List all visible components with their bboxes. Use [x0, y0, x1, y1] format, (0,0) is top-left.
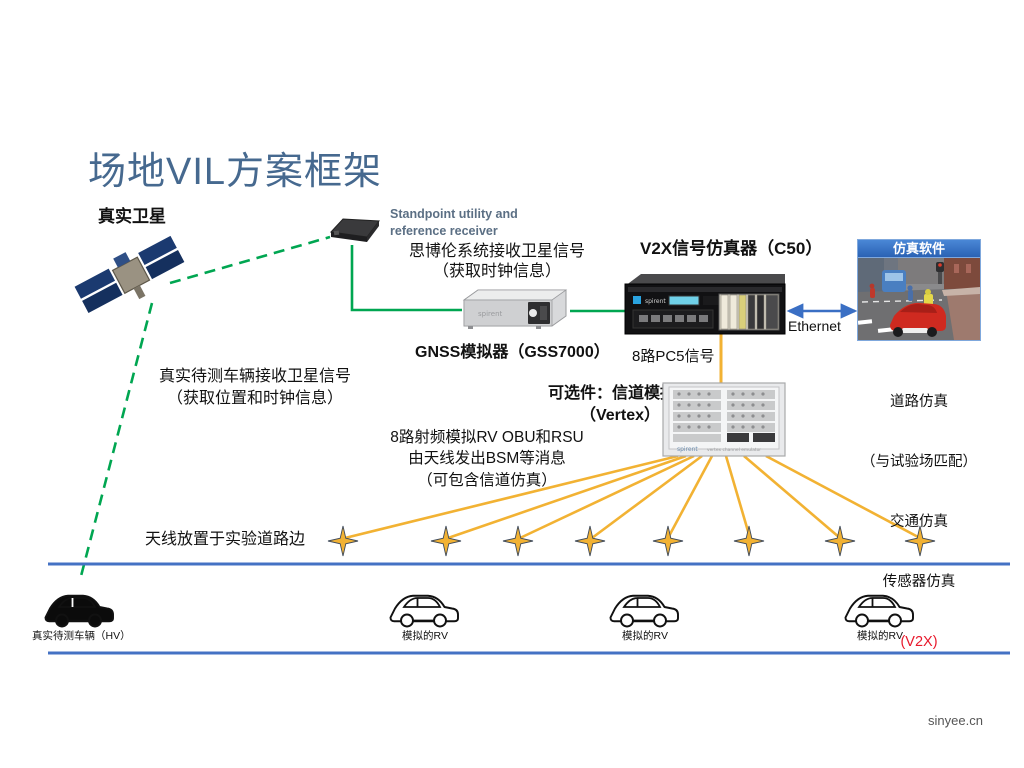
antenna-placement-note: 天线放置于实验道路边 — [145, 530, 305, 550]
car-icon — [377, 586, 473, 628]
antenna-icon — [575, 526, 605, 556]
pc5-signal-label: 8路PC5信号 — [632, 347, 715, 366]
car-icon — [32, 586, 128, 628]
simulation-software-panel: 仿真软件 — [857, 239, 981, 341]
simulation-software-header: 仿真软件 — [857, 239, 981, 257]
svg-text:spirent: spirent — [677, 446, 698, 453]
caption-line-match: （与试验场匹配） — [845, 452, 993, 472]
page-title: 场地VIL方案框架 — [88, 140, 382, 195]
spirent-clock-label: 思博伦系统接收卫星信号 （获取时钟信息） — [392, 242, 602, 283]
vehicle-remote-vehicle-1: 模拟的RV — [377, 586, 473, 643]
vehicle-label: 真实待测车辆（HV） — [32, 628, 128, 643]
hv-satellite-note: 真实待测车辆接收卫星信号 （获取位置和时钟信息） — [142, 366, 368, 409]
v2x-simulator-device: spirent — [625, 272, 785, 334]
standpoint-receiver-label: Standpoint utility and reference receive… — [390, 206, 518, 240]
car-icon — [597, 586, 693, 628]
vehicle-remote-vehicle-3: 模拟的RV — [832, 586, 928, 643]
svg-text:vertex channel emulator: vertex channel emulator — [707, 447, 761, 453]
antenna-icon — [734, 526, 764, 556]
satellite-icon — [72, 232, 192, 322]
v2x-simulator-label: V2X信号仿真器（C50） — [640, 238, 822, 260]
watermark: sinyee.cn — [928, 713, 983, 728]
gnss-simulator-device: spirent — [462, 286, 570, 330]
svg-text:spirent: spirent — [478, 310, 503, 318]
vehicle-label: 模拟的RV — [597, 628, 693, 643]
car-icon — [832, 586, 928, 628]
antenna-icon — [431, 526, 461, 556]
antenna-icon — [905, 526, 935, 556]
ethernet-label: Ethernet — [788, 318, 841, 336]
rf-channels-note: 8路射频模拟RV OBU和RSU 由天线发出BSM等消息 （可包含信道仿真） — [352, 427, 622, 491]
vehicle-remote-vehicle-2: 模拟的RV — [597, 586, 693, 643]
antenna-icon — [825, 526, 855, 556]
gnss-simulator-label: GNSS模拟器（GSS7000） — [415, 343, 610, 363]
antenna-icon — [653, 526, 683, 556]
simulation-scene-image — [857, 257, 981, 341]
svg-text:spirent: spirent — [645, 298, 666, 305]
vehicle-label: 模拟的RV — [377, 628, 473, 643]
antenna-icon — [328, 526, 358, 556]
satellite-label: 真实卫星 — [98, 206, 166, 228]
reference-receiver-device — [325, 215, 383, 245]
caption-line-road: 道路仿真 — [845, 392, 993, 412]
antenna-icon — [503, 526, 533, 556]
vehicle-label: 模拟的RV — [832, 628, 928, 643]
vertex-emulator-device: spirent vertex channel emulator — [663, 383, 785, 456]
vehicle-host-vehicle: 真实待测车辆（HV） — [32, 586, 128, 643]
